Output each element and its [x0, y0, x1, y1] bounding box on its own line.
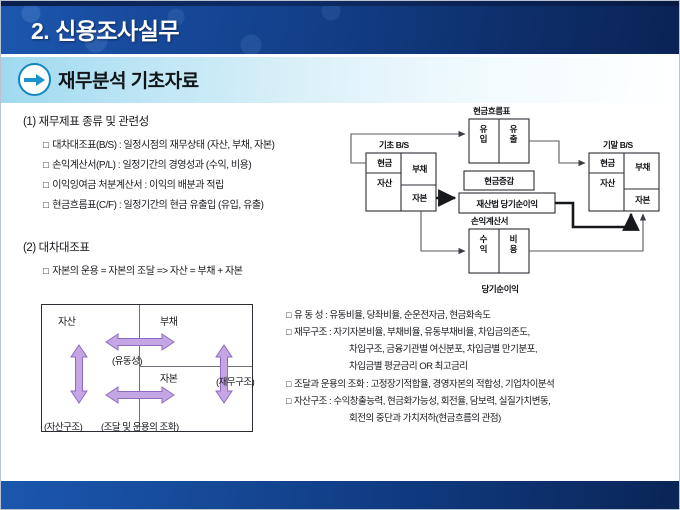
ending-bs-liabilities: 부채: [626, 161, 659, 173]
ratio-item-liquidity: □유 동 성 : 유동비율, 당좌비율, 순운전자금, 현금화속도: [286, 307, 491, 321]
financial-statement-flow-diagram: 기초 B/S 현금 자산 부채 자본 현금흐름표 유입 유출 현금증감 재산법 …: [341, 101, 680, 276]
bullet-marker: □: [286, 310, 291, 320]
ratio-label: 재무구조 :: [294, 327, 331, 338]
ending-bs-cash: 현금: [591, 157, 624, 169]
page-title: 2. 신용조사실무: [31, 12, 179, 46]
ratio-item-financial-structure: □재무구조 : 자기자본비율, 부채비율, 유동부채비율, 차입금의존도,: [286, 324, 530, 338]
bullet-marker: □: [43, 200, 48, 211]
bs-vertical-divider: [139, 305, 140, 431]
arrow-right-icon: [18, 63, 51, 96]
harmony-label: (조달 및 운용의 조화): [101, 419, 179, 433]
bullet-marker: □: [43, 160, 48, 171]
liquidity-arrow-icon: [104, 332, 176, 352]
ratio-item-harmony: □조달과 운용의 조화 : 고정장기적합율, 경영자본의 적합성, 기업차이분석: [286, 376, 554, 390]
footer-bar: [1, 481, 680, 509]
beginning-bs-equity: 자본: [403, 192, 436, 204]
header-divider: [1, 54, 680, 56]
bullet-marker: □: [286, 327, 291, 337]
bs-horizontal-divider: [139, 366, 252, 367]
liquidity-label: (유동성): [112, 353, 142, 367]
section1-bullet-2: □손익계산서(P/L) : 일정기간의 경영성과 (수익, 비용): [43, 156, 251, 171]
ratio-financial-structure-line2: 차입구조, 금융기관별 여신분포, 차입금별 만기분포,: [349, 341, 537, 355]
ending-bs-assets: 자산: [591, 177, 624, 189]
bullet-marker: □: [43, 180, 48, 191]
section1-bullet-1: □대차대조표(B/S) : 일정시점의 재무상태 (자산, 부채, 자본): [43, 136, 275, 151]
cash-flow-inflow: 유입: [477, 124, 490, 144]
cash-net-change: 현금증감: [464, 175, 534, 187]
section1-bullet-4: □현금흐름표(C/F) : 일정기간의 현금 유출입 (유입, 유출): [43, 196, 263, 211]
bullet-marker: □: [43, 140, 48, 151]
ratio-values: 유동비율, 당좌비율, 순운전자금, 현금화속도: [329, 310, 490, 321]
bs-equity-label: 자본: [160, 370, 178, 385]
financial-structure-label: (재무구조): [216, 374, 254, 388]
section2-bullet-1: □자본의 운용 = 자본의 조달 => 자산 = 부채 + 자본: [43, 262, 243, 277]
ratio-financial-structure-line3: 차입금별 평균금리 OR 최고금리: [349, 358, 468, 372]
asset-structure-arrow-icon: [69, 343, 89, 405]
income-statement-caption: 손익계산서: [471, 215, 508, 227]
ratio-values: 수익창출능력, 현금화가능성, 회전율, 담보력, 실질가치변동,: [333, 396, 550, 407]
asset-structure-label: (자산구조): [44, 419, 82, 433]
property-method-net-income: 재산법 당기순이익: [459, 198, 555, 210]
bullet-text: 대차대조표(B/S) : 일정시점의 재무상태 (자산, 부채, 자본): [52, 140, 274, 151]
beginning-bs-cash: 현금: [368, 157, 401, 169]
balance-sheet-inner: 자산 부채 자본 (유동성): [42, 305, 252, 431]
header-top-accent: [1, 1, 680, 6]
balance-sheet-structure-box: 자산 부채 자본 (유동성): [41, 304, 253, 432]
income-expense: 비용: [507, 234, 520, 254]
slide-canvas: 2. 신용조사실무 재무분석 기초자료 (1) 재무제표 종류 및 관련성 □대…: [0, 0, 680, 510]
ending-bs-equity: 자본: [626, 194, 659, 206]
cash-flow-caption: 현금흐름표: [473, 105, 510, 117]
beginning-bs-liabilities: 부채: [403, 163, 436, 175]
beginning-bs-caption: 기초 B/S: [379, 139, 409, 151]
income-net-income: 당기순이익: [469, 283, 531, 295]
cash-flow-outflow: 유출: [507, 124, 520, 144]
bullet-text: 자본의 운용 = 자본의 조달 => 자산 = 부채 + 자본: [52, 266, 242, 277]
bullet-marker: □: [286, 396, 291, 406]
header-bar: 2. 신용조사실무: [1, 1, 680, 56]
ratio-label: 유 동 성 :: [294, 310, 327, 321]
bullet-marker: □: [286, 379, 291, 389]
bullet-text: 이익잉여금 처분계산서 : 이익의 배분과 적립: [52, 180, 223, 191]
ratio-item-asset-structure: □자산구조 : 수익창출능력, 현금화가능성, 회전율, 담보력, 실질가치변동…: [286, 393, 550, 407]
income-revenue: 수익: [477, 234, 490, 254]
bs-assets-label: 자산: [58, 313, 76, 328]
ratio-label: 자산구조 :: [294, 396, 331, 407]
section1-bullet-3: □이익잉여금 처분계산서 : 이익의 배분과 적립: [43, 176, 224, 191]
subtitle-text: 재무분석 기초자료: [58, 66, 199, 93]
section2-heading: (2) 대차대조표: [23, 239, 90, 255]
ratio-values: 고정장기적합율, 경영자본의 적합성, 기업차이분석: [371, 379, 555, 390]
bs-liabilities-label: 부채: [160, 313, 178, 328]
bullet-marker: □: [43, 266, 48, 277]
section1-heading: (1) 재무제표 종류 및 관련성: [23, 113, 149, 129]
bullet-text: 현금흐름표(C/F) : 일정기간의 현금 유출입 (유입, 유출): [52, 200, 263, 211]
ratio-label: 조달과 운용의 조화 :: [294, 379, 368, 390]
ratio-asset-structure-line2: 회전의 중단과 가치저하(현금흐름의 관점): [349, 410, 501, 424]
bullet-text: 손익계산서(P/L) : 일정기간의 경영성과 (수익, 비용): [52, 160, 251, 171]
ending-bs-caption: 기말 B/S: [603, 139, 633, 151]
harmony-arrow-icon: [104, 385, 176, 405]
beginning-bs-assets: 자산: [368, 177, 401, 189]
ratio-values: 자기자본비율, 부채비율, 유동부채비율, 차입금의존도,: [333, 327, 529, 338]
